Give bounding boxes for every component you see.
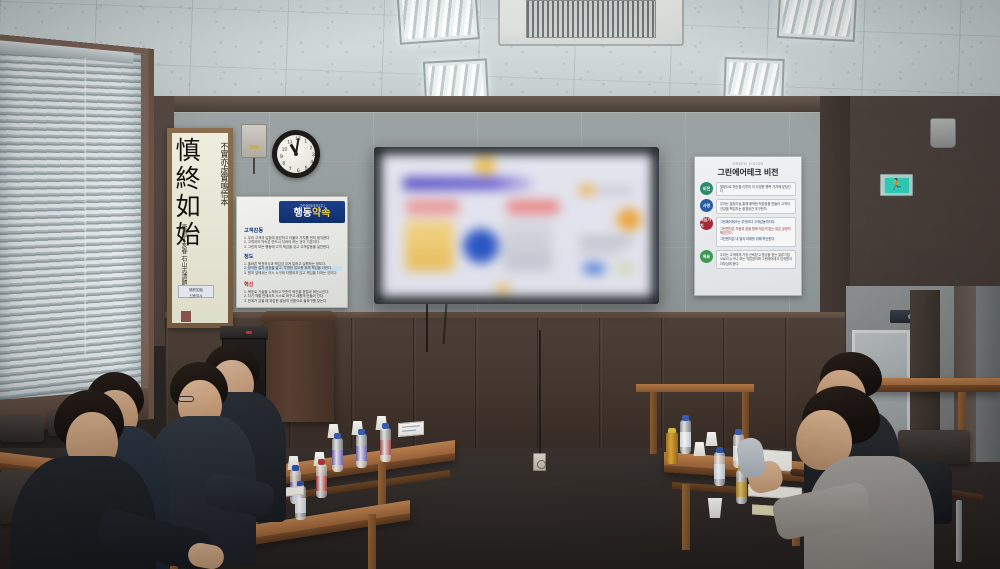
ac-grille [526,0,656,38]
poster-section-heading: 고객감동 [244,227,342,234]
water-bottle[interactable] [380,428,391,462]
running-person-icon: 🏃 [890,180,904,191]
clock-numeral: 5 [305,165,308,171]
bottle-cap [668,428,676,433]
action-promise-poster: 그린에어테크(주) 행동약속 고객감동 1. 우리 고객의 입장에 공감하고 더… [236,196,348,308]
clock-numeral: 2 [310,145,313,151]
bottle-cap [682,415,689,421]
door-side-panel [976,286,1000,462]
scroll-seal-stamp [181,311,191,322]
poster-banner: 그린에어테크(주) 행동약속 [279,201,345,223]
slide-pill-left [405,200,459,214]
ceiling-light-fixture [396,0,480,45]
eyeglasses [178,396,194,402]
lectern-top [261,311,337,321]
clock-numeral: 10 [282,146,288,152]
poster-section-1: 고객감동 1. 우리 고객의 입장에 공감하고 더불어 가치를 먼저 생각한다.… [244,227,342,249]
bottle-label [736,482,747,497]
slide-right-bar-1 [598,187,633,194]
scroll-side-inscription: 不實亦虛實鳴悟本 [213,142,229,206]
bottle-cap [716,447,723,453]
wall-mounted-tv[interactable] [374,147,659,304]
chair-backrest[interactable] [898,430,970,464]
bottle-cap [318,459,325,465]
poster-banner-company: 그린에어테크(주) [279,203,345,208]
side-table-leg [650,392,657,454]
wall-soffit-beam [165,96,845,112]
bottle-cap [735,429,742,435]
company-vision-poster: GREEN VISION 그린에어테크 비전 비전 열정으로 혁신을 이루어 더… [694,156,802,296]
ceiling-air-conditioner [498,0,684,46]
clock-numeral: 7 [289,166,292,172]
scroll-char-2: 終 [175,166,200,191]
scroll-signature: 壹岳丁亥春 石山志清題 [173,224,187,286]
vision-row-4: 목표 우리는 고객에게 가장 신뢰받고 명성을 얻는 일류기업으로서 누구나 보… [700,250,796,269]
water-bottle[interactable] [714,452,725,486]
meeting-room-photo: 慎 終 如 始 不實亦虛實鳴悟本 壹岳丁亥春 石山志清題 慎終如始 신종여시 1… [0,0,1000,569]
slide-right-circle-blue [582,263,606,274]
vision-badge: 핵심가치 [700,217,713,230]
water-bottle[interactable] [332,438,343,472]
vision-row-text: 우리는 열정기술 통해 쾌적한 작업장을 만들어 고객의 건강을 책임지는 환경… [716,199,796,213]
scroll-char-1: 慎 [175,138,200,163]
chair-backrest[interactable] [0,416,44,442]
poster-section-line-highlight: 2. 정직한 절차 공정을 밟고, 투명한 업무를 위해 책임을 다한다. [244,266,342,271]
slide-title-block [403,177,533,190]
vision-row-values: 그린에어테크는 무엇보다 고객감동까지다. 그린원칙은 처음과 끝을 함께 작은… [716,217,796,247]
vision-value-item: 그린원칙은 내 일의 미래를 위해 혁신한다. [720,237,792,241]
poster-section-line: 3. 한계가 있을 때 과감한 발상의 전환으로 돌파구를 찾는다. [244,299,342,304]
vision-eyebrow: GREEN VISION [700,162,796,166]
name-card-line [402,429,416,432]
name-card-tent [398,421,424,437]
slide-pill-center [506,200,560,214]
scroll-caption-label: 慎終如始 신종여시 [178,285,214,298]
side-table-top [636,384,754,392]
calligraphy-scroll: 慎 終 如 始 不實亦虛實鳴悟本 壹岳丁亥春 石山志清題 慎終如始 신종여시 [167,128,233,328]
vision-row-1: 비전 열정으로 혁신을 이루어 더 다양한 행복 가치에 앞장선다 [700,182,796,196]
bottle-label [356,446,367,461]
vision-row-text: 열정으로 혁신을 이루어 더 다양한 행복 가치에 앞장선다 [716,182,796,196]
scroll-char-3: 如 [175,194,200,219]
slide-right-marker-1 [579,185,595,195]
water-bottle[interactable] [356,434,367,468]
ceiling-light-fixture [777,0,858,42]
clock-numeral: 3 [312,152,315,158]
corner-shadow-panel [910,290,940,440]
wall-speaker [930,118,956,148]
slide-bottom-accent [492,283,514,294]
clock-numeral: 4 [310,159,313,165]
vision-row-2: 사명 우리는 열정기술 통해 쾌적한 작업장을 만들어 고객의 건강을 책임지는… [700,199,796,213]
water-bottle[interactable] [680,420,691,454]
clock-numeral: 9 [280,154,283,160]
scroll-caption-line1: 慎終如始 [189,288,203,292]
poster-section-line: 3. 그린의 모든 행동에 고객 책임을 갖고 고객감동을 실천한다. [244,245,342,250]
vision-badge: 사명 [700,199,713,212]
tea-bottle[interactable] [666,432,678,464]
name-card-line [402,425,420,428]
bottle-label [316,476,327,491]
bottle-cap [292,465,299,471]
poster-section-line: 3. 원칙 앞에서는 어느 누구와 타협하지 않고 책임을 다하는 것이다. [244,271,342,276]
clock-numeral: 1 [304,138,307,144]
slide-sun-graphic [470,157,500,176]
vision-row-text: 우리는 고객에게 가장 신뢰받고 명성을 얻는 일류기업으로서 누구나 보는 직… [716,250,796,269]
venetian-blinds[interactable] [0,40,141,400]
slide-right-circle-orange [614,208,644,231]
poster-section-heading: 정도 [244,253,342,260]
exit-sign-pane: 🏃 [885,178,909,193]
bottle-cap [382,423,389,429]
poster-section-2: 정도 1. 올바른 목표의식과 책임감 있게 일하고 실행하는 정도다. 2. … [244,253,342,275]
dispenser-cable [253,158,255,174]
bottle-cap [334,433,341,439]
vision-badge: 비전 [700,182,713,195]
poster-banner-title: 행동약속 [279,208,345,220]
bottle-cap [358,429,365,435]
bottle-label [332,450,343,465]
hanging-cable [539,330,541,454]
bottle-label [380,440,391,455]
slide-yellow-block [405,220,454,271]
slide-right-bar-2 [579,237,633,244]
clock-face: 12 1 2 3 4 5 6 7 8 9 10 11 [276,134,316,174]
poster-section-3: 혁신 1. 목표로 기술을 누적하고 꾸준히 혁신을 정립과 혁신시킨다. 2.… [244,281,342,303]
tv-screen-content [381,154,652,297]
vision-badge: 목표 [700,250,713,263]
slide-blue-circle [462,228,500,264]
slide-right-bar-3 [579,248,622,254]
blind-cord[interactable] [84,58,86,355]
tv-power-cable [426,304,428,352]
table-leg [682,484,690,550]
slide-right-circle-green [614,263,636,274]
chair-leg-frame [956,500,962,562]
bottle-label [680,432,691,447]
window-frame [0,34,154,434]
vision-row-3: 핵심가치 그린에어테크는 무엇보다 고객감동까지다. 그린원칙은 처음과 끝을 … [700,217,796,247]
vision-value-item: 그린에어테크는 무엇보다 고객감동까지다. [720,220,792,224]
poster-section-heading: 혁신 [244,281,342,288]
clock-center-pin [294,152,298,156]
bottle-label [295,498,306,513]
wall-mounted-dispenser [241,124,267,158]
wall-power-outlet[interactable] [533,453,546,471]
ceiling-light-fixture [723,57,784,101]
water-bottle[interactable] [316,464,327,498]
clock-numeral: 8 [282,161,285,167]
scroll-caption-line2: 신종여시 [190,294,203,298]
speaker-power-led [246,331,252,334]
slide-grey-block [503,220,552,271]
bottle-label [714,464,725,479]
clock-numeral: 6 [297,168,300,174]
vision-value-item: 그린원칙은 처음과 끝을 함께 작은의 없는 맑은 공정히 책임진다. [720,227,792,235]
emergency-exit-sign: 🏃 [880,174,913,196]
vision-title: 그린에어테크 비전 [700,167,796,178]
table-leg [368,514,376,569]
